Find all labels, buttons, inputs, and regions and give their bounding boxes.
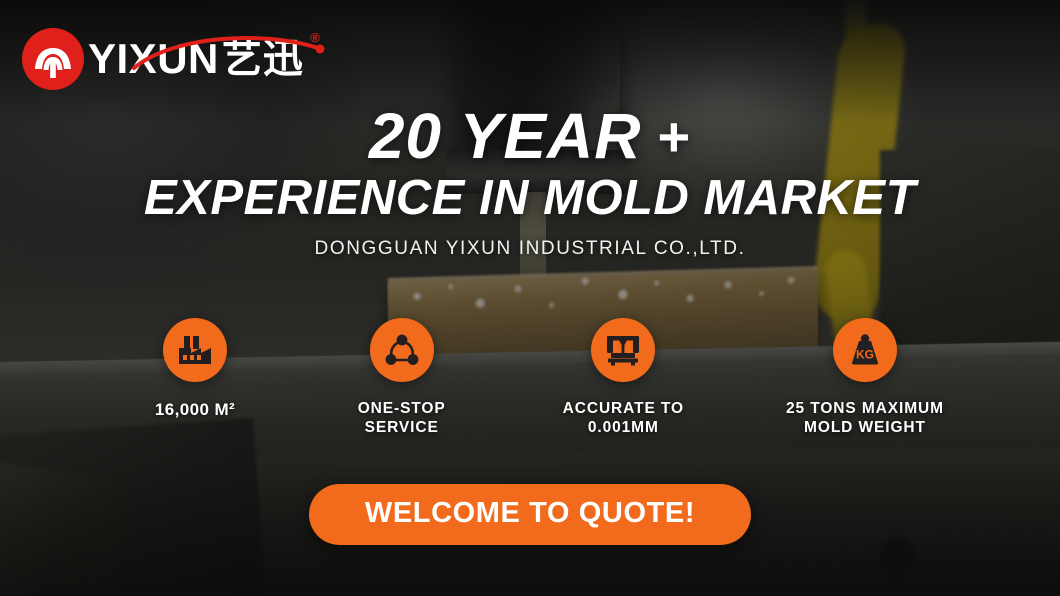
yixun-y-emblem-icon — [22, 28, 84, 90]
cta-container: WELCOME TO QUOTE! — [0, 484, 1060, 545]
feature-icon-badge: KG — [833, 318, 897, 382]
logo-wordmark: YIXUN 艺迅 ® — [88, 28, 304, 90]
feature-icon-badge — [370, 318, 434, 382]
feature-icon-badge — [591, 318, 655, 382]
company-name-subtitle: DONGGUAN YIXUN INDUSTRIAL CO.,LTD. — [0, 238, 1060, 260]
feature-label: ACCURATE TO 0.001MM — [563, 399, 684, 438]
banner-content: YIXUN 艺迅 ® 20 YEAR+ EXPERIENCE IN MOLD M… — [0, 0, 1060, 596]
headline-line-1: 20 YEAR+ — [0, 104, 1060, 169]
cnc-machine-icon — [604, 333, 642, 367]
weight-kg-icon: KG — [847, 333, 883, 367]
headline-line-2: EXPERIENCE IN MOLD MARKET — [0, 173, 1060, 224]
feature-label: ONE-STOP SERVICE — [358, 399, 446, 438]
feature-item-service: ONE-STOP SERVICE — [317, 318, 487, 438]
registered-trademark-icon: ® — [310, 30, 320, 45]
company-logo[interactable]: YIXUN 艺迅 ® — [22, 26, 304, 92]
weight-badge-text: KG — [856, 348, 874, 362]
welcome-to-quote-button[interactable]: WELCOME TO QUOTE! — [309, 484, 751, 545]
promo-banner: YIXUN 艺迅 ® 20 YEAR+ EXPERIENCE IN MOLD M… — [0, 0, 1060, 596]
network-nodes-icon — [384, 333, 420, 367]
feature-label: 25 TONS MAXIMUM MOLD WEIGHT — [786, 399, 944, 438]
logo-latin-text: YIXUN — [88, 38, 219, 80]
headline-block: 20 YEAR+ EXPERIENCE IN MOLD MARKET DONGG… — [0, 104, 1060, 260]
feature-item-accuracy: ACCURATE TO 0.001MM — [533, 318, 713, 438]
feature-item-weight: KG 25 TONS MAXIMUM MOLD WEIGHT — [760, 318, 970, 438]
feature-item-area: 16,000 M² — [120, 318, 270, 420]
headline-years: 20 YEAR — [369, 100, 642, 172]
feature-list: 16,000 M² ONE-STOP SERVICE — [120, 318, 970, 438]
logo-chinese-text: 艺迅 — [222, 39, 304, 79]
headline-plus-symbol: + — [657, 108, 691, 165]
factory-icon — [177, 334, 213, 366]
feature-label: 16,000 M² — [155, 399, 235, 420]
feature-icon-badge — [163, 318, 227, 382]
